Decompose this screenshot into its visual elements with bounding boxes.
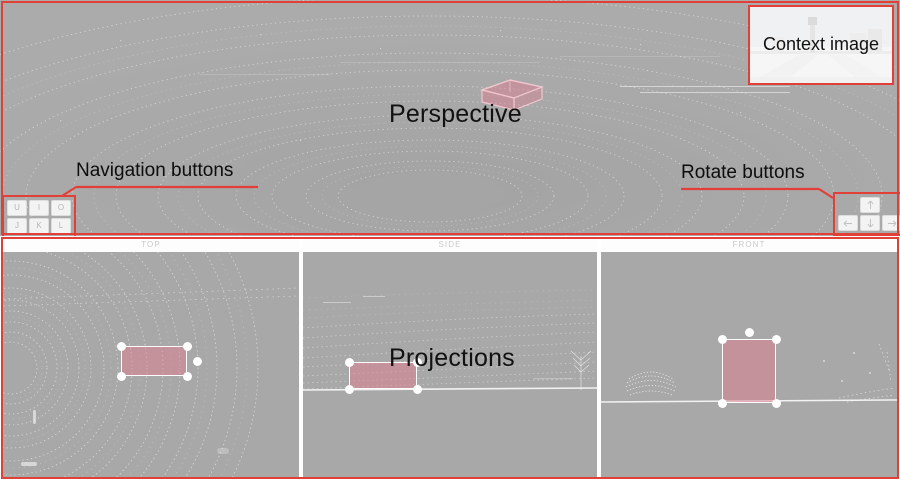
handle-bottom-left[interactable] [718, 399, 727, 408]
handle-bottom-right[interactable] [183, 372, 192, 381]
rotate-buttons-group[interactable] [833, 192, 900, 236]
arrow-up-icon [866, 200, 875, 210]
top-view-header: TOP [3, 236, 299, 252]
handle-top-right[interactable] [772, 335, 781, 344]
handle-top-left[interactable] [345, 358, 354, 367]
bounding-box-front[interactable] [722, 339, 776, 403]
navigation-buttons-callout-label: Navigation buttons [76, 160, 233, 182]
handle-bottom-right[interactable] [772, 399, 781, 408]
handle-top-left[interactable] [718, 335, 727, 344]
rotate-down-button[interactable] [860, 215, 880, 231]
context-image-panel[interactable]: Context image [748, 5, 894, 85]
handle-bottom-left[interactable] [117, 372, 126, 381]
handle-top-left[interactable] [117, 342, 126, 351]
handle-rotate[interactable] [193, 357, 202, 366]
perspective-label: Perspective [389, 100, 522, 129]
nav-key-k[interactable]: K [29, 218, 49, 234]
handle-bottom-left[interactable] [345, 385, 354, 394]
rotate-key-spacer-right [882, 197, 900, 213]
arrow-down-icon [866, 218, 875, 228]
front-view-header: FRONT [601, 236, 897, 252]
bounding-box-top[interactable] [121, 346, 187, 376]
rotate-up-button[interactable] [860, 197, 880, 213]
annotation-tool-window: Perspective Context image U [0, 0, 900, 480]
side-view-header: SIDE [303, 236, 597, 252]
nav-key-i[interactable]: I [29, 200, 49, 216]
rotate-right-button[interactable] [882, 215, 900, 231]
navigation-buttons-group[interactable]: U I O J K L [2, 195, 76, 236]
front-view[interactable] [601, 252, 897, 477]
nav-key-l[interactable]: L [51, 218, 71, 234]
handle-top-center[interactable] [745, 328, 754, 337]
handle-bottom-right[interactable] [413, 385, 422, 394]
handle-top-right[interactable] [183, 342, 192, 351]
rotate-buttons-callout-label: Rotate buttons [681, 162, 805, 184]
projections-label: Projections [389, 344, 515, 373]
nav-key-u[interactable]: U [7, 200, 27, 216]
nav-key-o[interactable]: O [51, 200, 71, 216]
arrow-left-icon [843, 219, 853, 228]
context-image-label: Context image [750, 34, 892, 55]
arrow-right-icon [887, 219, 897, 228]
nav-key-j[interactable]: J [7, 218, 27, 234]
rotate-left-button[interactable] [838, 215, 858, 231]
perspective-view[interactable]: Perspective Context image U [0, 0, 900, 236]
rotate-key-spacer-left [838, 197, 858, 213]
top-view[interactable] [3, 252, 299, 477]
